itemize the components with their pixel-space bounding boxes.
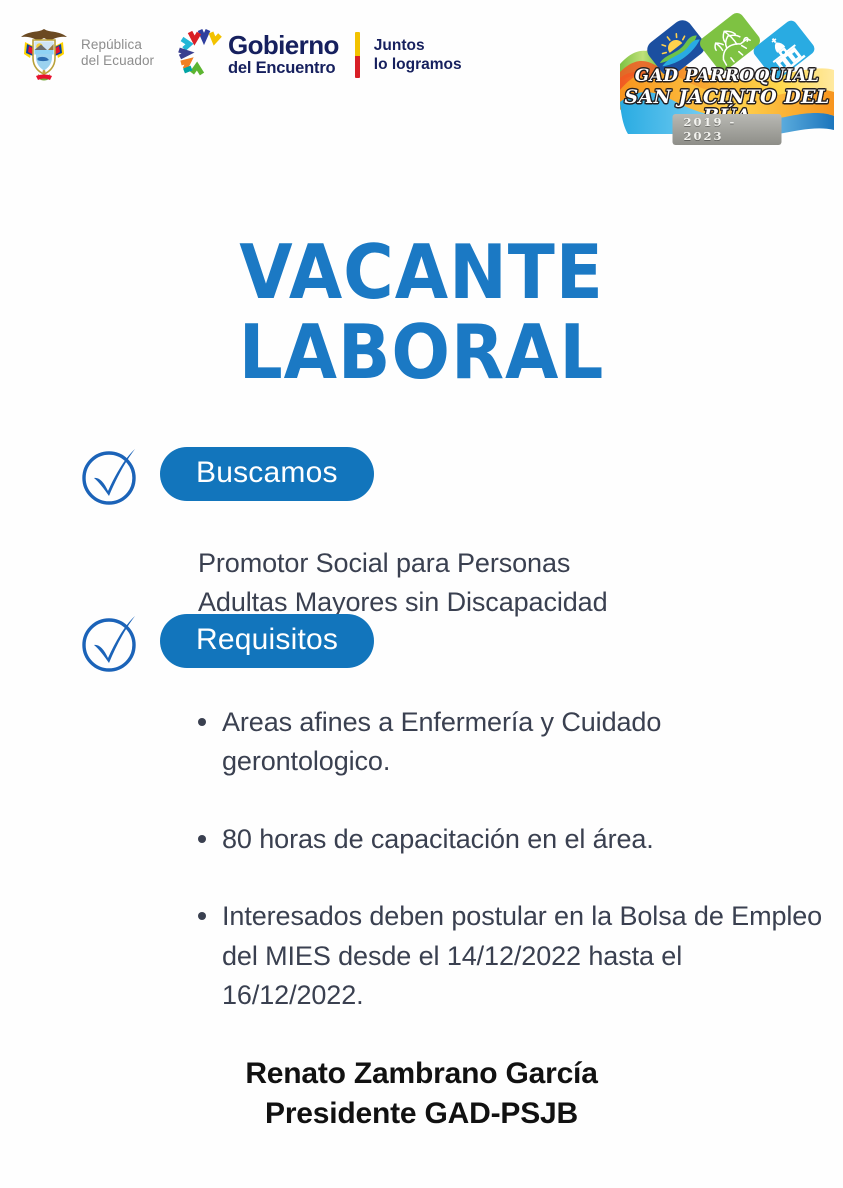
gad-logo-years-badge: 2019 - 2023 bbox=[673, 114, 782, 145]
poster-canvas: República del Ecuador bbox=[0, 0, 843, 1188]
gobierno-tagline-line2: lo logramos bbox=[374, 55, 462, 74]
list-item: Interesados deben postular en la Bolsa d… bbox=[196, 897, 826, 1015]
gobierno-burst-icon bbox=[172, 24, 234, 86]
gobierno-tagline-line1: Juntos bbox=[374, 36, 462, 55]
page-title: VACANTE LABORAL bbox=[34, 236, 810, 388]
buscamos-description-line1: Promotor Social para Personas bbox=[198, 544, 818, 583]
gobierno-logo-text: Gobierno del Encuentro bbox=[228, 32, 339, 77]
ecuador-logo-line2: del Ecuador bbox=[81, 53, 154, 69]
section-requisitos: Requisitos Areas afines a Enfermería y C… bbox=[0, 607, 843, 675]
page-title-line2: LABORAL bbox=[34, 316, 810, 388]
section-buscamos: Buscamos Promotor Social para Personas A… bbox=[0, 440, 843, 508]
requisitos-list: Areas afines a Enfermería y Cuidado gero… bbox=[196, 703, 826, 1015]
gad-parroquial-logo: GAD PARROQUIAL SAN JACINTO DEL BÚA 2019 … bbox=[618, 6, 836, 136]
header-logos-band: República del Ecuador bbox=[0, 0, 843, 150]
signature-role: Presidente GAD-PSJB bbox=[0, 1094, 843, 1134]
check-circle-icon bbox=[78, 607, 146, 675]
ecuador-logo-text: República del Ecuador bbox=[81, 37, 154, 69]
section-buscamos-header: Buscamos bbox=[0, 440, 843, 508]
check-circle-icon bbox=[78, 440, 146, 508]
gad-logo-line1: GAD PARROQUIAL bbox=[618, 68, 836, 85]
gobierno-logo-line2: del Encuentro bbox=[228, 59, 339, 77]
list-item: Areas afines a Enfermería y Cuidado gero… bbox=[196, 703, 826, 782]
ecuador-republic-logo: República del Ecuador bbox=[16, 24, 154, 82]
ecuador-logo-line1: República bbox=[81, 37, 154, 53]
gobierno-logo-tagline: Juntos lo logramos bbox=[374, 36, 462, 75]
ecuador-coat-of-arms-icon bbox=[16, 24, 72, 82]
gobierno-del-encuentro-logo: Gobierno del Encuentro Juntos lo logramo… bbox=[172, 24, 462, 86]
signature-block: Renato Zambrano García Presidente GAD-PS… bbox=[0, 1054, 843, 1133]
list-item: 80 horas de capacitación en el área. bbox=[196, 820, 826, 859]
badge-requisitos: Requisitos bbox=[160, 614, 374, 669]
section-requisitos-header: Requisitos bbox=[0, 607, 843, 675]
signature-name: Renato Zambrano García bbox=[0, 1054, 843, 1094]
gobierno-logo-divider bbox=[355, 32, 360, 78]
badge-buscamos: Buscamos bbox=[160, 447, 374, 502]
gobierno-logo-line1: Gobierno bbox=[228, 32, 339, 58]
page-title-line1: VACANTE bbox=[239, 228, 604, 316]
